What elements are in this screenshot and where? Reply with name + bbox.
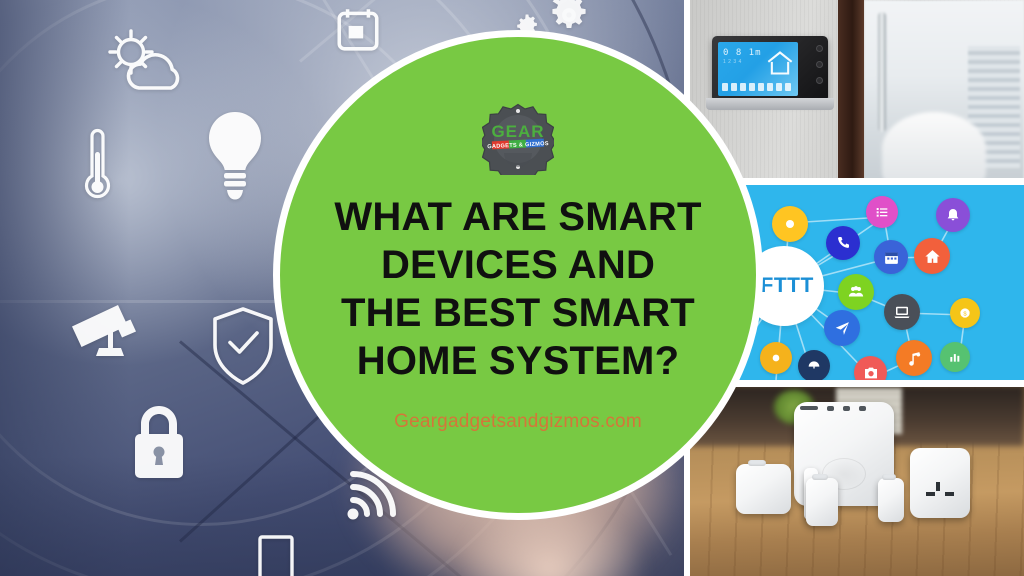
hub-ports — [800, 404, 888, 412]
featured-image-canvas: 0 8 1m 1 2 3 4 — [0, 0, 1024, 576]
node-laptop-icon — [884, 294, 920, 330]
sensor-1 — [736, 464, 791, 514]
node-dashboard-icon — [798, 350, 830, 382]
gear-gadgets-gizmos-logo: GEAR GADGETS & GIZMOS — [482, 103, 554, 175]
node-bell-icon — [936, 198, 970, 232]
control-panel-screen: 0 8 1m 1 2 3 4 — [718, 42, 798, 96]
page-title: WHAT ARE SMART DEVICES AND THE BEST SMAR… — [303, 193, 733, 385]
control-panel-device: 0 8 1m 1 2 3 4 — [712, 36, 828, 102]
headline-line-4: HOME SYSTEM? — [303, 337, 733, 385]
door-icon — [256, 534, 296, 576]
sensor-2-tab — [812, 474, 828, 480]
sensor-2 — [806, 478, 838, 526]
thermometer-icon — [78, 124, 118, 208]
sensor-3 — [878, 478, 904, 522]
node-music-icon — [896, 340, 932, 376]
smart-home-control-panel-photo: 0 8 1m 1 2 3 4 — [688, 0, 1024, 180]
window-scene — [864, 0, 1024, 180]
node-people-icon — [838, 274, 874, 310]
screen-subtext: 1 2 3 4 — [723, 59, 742, 65]
house-icon — [766, 50, 794, 76]
site-url: Geargadgetsandgizmos.com — [394, 411, 642, 433]
node-calendar-icon — [874, 240, 908, 274]
control-panel-buttons[interactable] — [816, 45, 823, 84]
tap-fixture — [878, 12, 886, 132]
node-chart-icon — [940, 342, 970, 372]
lightbulb-icon — [203, 110, 267, 206]
svg-text:GEAR: GEAR — [491, 122, 544, 141]
calendar-icon — [333, 2, 383, 54]
headline-line-2: DEVICES AND — [303, 241, 733, 289]
door-jamb — [838, 0, 864, 180]
ifttt-logo-text: IFTTT — [754, 274, 814, 298]
smart-home-hub-and-sensors-photo — [688, 386, 1024, 576]
node-sun-icon — [760, 342, 792, 374]
node-brightness-icon — [772, 206, 808, 242]
headline-line-3: THE BEST SMART — [303, 289, 733, 337]
screen-icon-row — [722, 83, 791, 91]
bathtub — [882, 112, 986, 180]
weather-sun-cloud-icon — [98, 28, 198, 106]
node-home-icon — [914, 238, 950, 274]
shield-check-icon — [210, 306, 276, 386]
node-send-icon — [824, 310, 860, 346]
node-coin-icon: $ — [950, 298, 980, 328]
screen-time: 0 8 1m — [723, 48, 762, 58]
headline-line-1: WHAT ARE SMART — [303, 193, 733, 241]
node-phone-icon — [826, 226, 860, 260]
smart-plug — [910, 448, 970, 518]
sensor-3-tab — [882, 474, 896, 480]
title-badge-circle: GEAR GADGETS & GIZMOS WHAT ARE SMART DEV… — [273, 30, 763, 520]
sensor-1-tab — [748, 460, 766, 466]
node-list-icon — [866, 196, 898, 228]
security-camera-icon — [68, 300, 148, 360]
padlock-icon — [128, 404, 190, 480]
node-camera-icon — [854, 356, 887, 382]
control-panel-base — [706, 98, 834, 110]
